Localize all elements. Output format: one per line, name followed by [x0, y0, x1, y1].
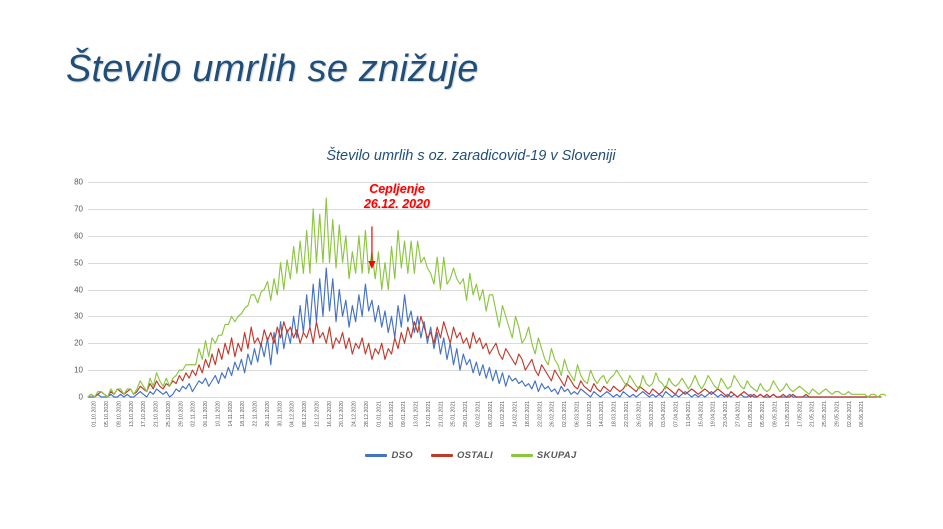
slide-title: Število umrlih se znižuje: [66, 48, 479, 91]
chart-container: Število umrlih s oz. zaradicovid-19 v Sl…: [56, 140, 886, 480]
legend-label-skupaj: SKUPAJ: [537, 450, 577, 461]
cepljenje-annotation: Cepljenje 26.12. 2020: [332, 182, 462, 212]
chart-plot-canvas: [56, 140, 886, 480]
annotation-line-1: Cepljenje: [332, 182, 462, 197]
slide-canvas: Število umrlih se znižuje Število umrlih…: [0, 0, 943, 529]
legend-item-dso[interactable]: DSO: [365, 450, 413, 461]
legend-label-ostali: OSTALI: [457, 450, 493, 461]
legend-swatch-dso: [365, 454, 387, 457]
chart-legend: DSO OSTALI SKUPAJ: [56, 450, 886, 461]
legend-swatch-skupaj: [511, 454, 533, 457]
legend-item-skupaj[interactable]: SKUPAJ: [511, 450, 577, 461]
legend-item-ostali[interactable]: OSTALI: [431, 450, 493, 461]
legend-swatch-ostali: [431, 454, 453, 457]
annotation-line-2: 26.12. 2020: [332, 197, 462, 212]
legend-label-dso: DSO: [391, 450, 413, 461]
